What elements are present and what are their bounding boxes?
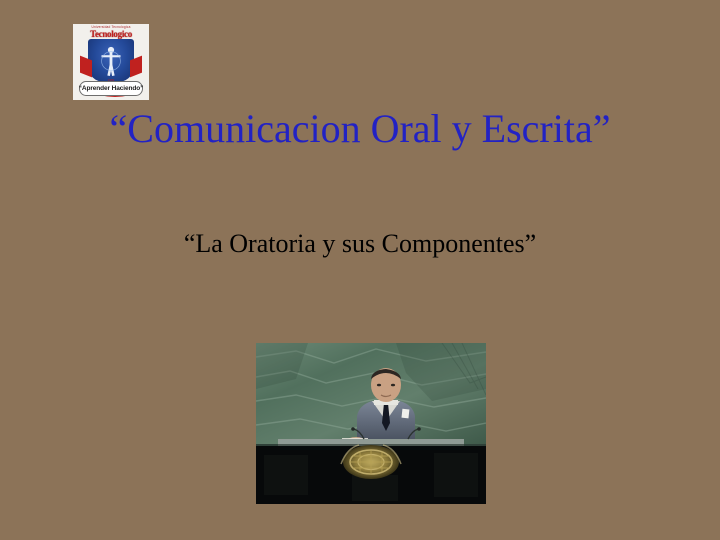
presentation-slide: Universidad Tecnologica Tecnologico 1982…: [0, 0, 720, 540]
un-assembly-speaker-illustration: [256, 343, 486, 504]
slide-title: “Comunicacion Oral y Escrita”: [0, 105, 720, 153]
crest-motto-banner: “Aprender Haciendo”: [79, 81, 143, 96]
crest-institution-name: Tecnologico: [73, 29, 149, 39]
crest-motto-text: “Aprender Haciendo”: [79, 85, 144, 92]
un-assembly-speaker-photo: [256, 343, 486, 504]
crest-graphic: Universidad Tecnologica Tecnologico 1982…: [73, 24, 149, 100]
institution-logo: Universidad Tecnologica Tecnologico 1982…: [73, 24, 149, 100]
slide-subtitle: “La Oratoria y sus Componentes”: [0, 228, 720, 260]
